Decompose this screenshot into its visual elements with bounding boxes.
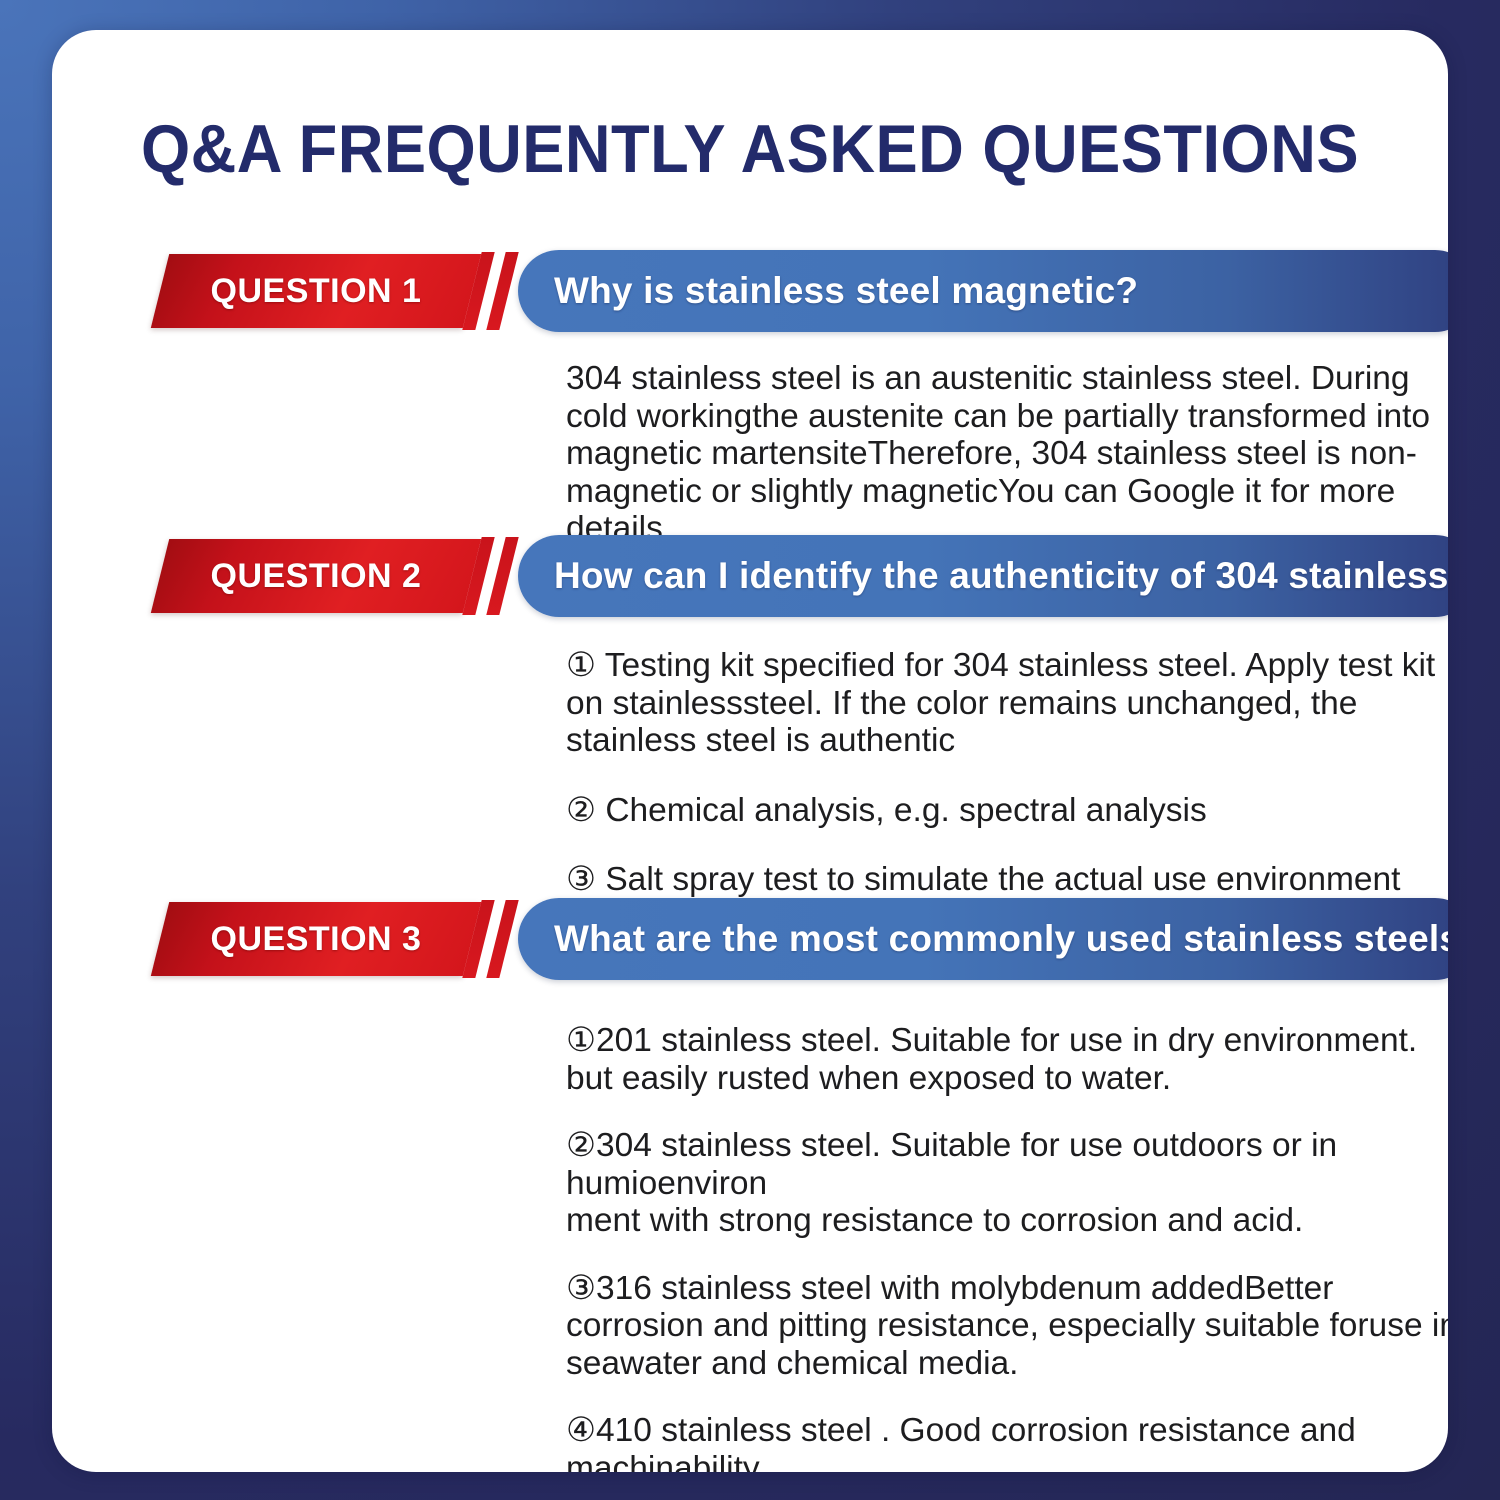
answer-paragraph: ① Testing kit specified for 304 stainles… [566, 647, 1448, 760]
question-pill-2[interactable]: How can I identify the authenticity of 3… [518, 535, 1448, 617]
faq-header-3: QUESTION 3 What are the most commonly us… [52, 898, 1448, 980]
question-pill-3[interactable]: What are the most commonly used stainles… [518, 898, 1448, 980]
question-text-2: How can I identify the authenticity of 3… [518, 555, 1448, 597]
faq-card: Q&A FREQUENTLY ASKED QUESTIONS QUESTION … [52, 30, 1448, 1472]
question-badge-label-2: QUESTION 2 [160, 539, 472, 613]
faq-block-1: QUESTION 1 Why is stainless steel magnet… [52, 250, 1448, 332]
answer-paragraph: ③316 stainless steel with molybdenum add… [566, 1270, 1448, 1383]
answer-body-3: ①201 stainless steel. Suitable for use i… [566, 1022, 1448, 1472]
question-badge-label-1: QUESTION 1 [160, 254, 472, 328]
answer-paragraph: 304 stainless steel is an austenitic sta… [566, 360, 1448, 548]
question-pill-1[interactable]: Why is stainless steel magnetic? [518, 250, 1448, 332]
answer-paragraph: ② Chemical analysis, e.g. spectral analy… [566, 792, 1448, 830]
answer-paragraph: ③ Salt spray test to simulate the actual… [566, 861, 1448, 899]
faq-block-2: QUESTION 2 How can I identify the authen… [52, 535, 1448, 617]
faq-block-3: QUESTION 3 What are the most commonly us… [52, 898, 1448, 980]
question-text-3: What are the most commonly used stainles… [518, 918, 1448, 960]
question-badge-label-3: QUESTION 3 [160, 902, 472, 976]
faq-header-1: QUESTION 1 Why is stainless steel magnet… [52, 250, 1448, 332]
answer-paragraph: ①201 stainless steel. Suitable for use i… [566, 1022, 1448, 1097]
answer-body-1: 304 stainless steel is an austenitic sta… [566, 360, 1448, 548]
faq-header-2: QUESTION 2 How can I identify the authen… [52, 535, 1448, 617]
page-title: Q&A FREQUENTLY ASKED QUESTIONS [101, 110, 1399, 188]
answer-paragraph: ④410 stainless steel . Good corrosion re… [566, 1412, 1448, 1472]
question-text-1: Why is stainless steel magnetic? [518, 270, 1138, 312]
answer-paragraph: ②304 stainless steel. Suitable for use o… [566, 1127, 1448, 1240]
answer-body-2: ① Testing kit specified for 304 stainles… [566, 647, 1448, 899]
